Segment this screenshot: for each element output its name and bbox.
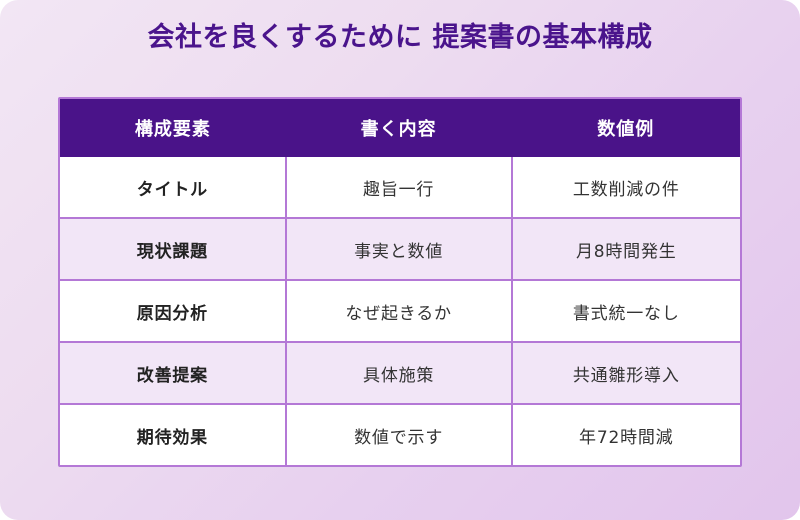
table-row: タイトル 趣旨一行 工数削減の件 [60, 157, 740, 218]
cell-content: 具体施策 [286, 342, 512, 404]
table: 構成要素 書く内容 数値例 タイトル 趣旨一行 工数削減の件 現状課題 事実と数… [60, 99, 740, 465]
proposal-structure-table: 構成要素 書く内容 数値例 タイトル 趣旨一行 工数削減の件 現状課題 事実と数… [58, 97, 742, 467]
table-row: 改善提案 具体施策 共通雛形導入 [60, 342, 740, 404]
cell-element: 期待効果 [60, 404, 286, 465]
cell-content: 事実と数値 [286, 218, 512, 280]
cell-element: タイトル [60, 157, 286, 218]
cell-example: 書式統一なし [512, 280, 741, 342]
cell-example: 工数削減の件 [512, 157, 741, 218]
column-header-example: 数値例 [512, 99, 741, 157]
table-body: タイトル 趣旨一行 工数削減の件 現状課題 事実と数値 月8時間発生 原因分析 … [60, 157, 740, 465]
cell-element: 現状課題 [60, 218, 286, 280]
page-title: 会社を良くするために 提案書の基本構成 [0, 22, 800, 54]
cell-content: なぜ起きるか [286, 280, 512, 342]
cell-example: 年72時間減 [512, 404, 741, 465]
cell-example: 共通雛形導入 [512, 342, 741, 404]
cell-element: 改善提案 [60, 342, 286, 404]
column-header-element: 構成要素 [60, 99, 286, 157]
cell-example: 月8時間発生 [512, 218, 741, 280]
table-header-row: 構成要素 書く内容 数値例 [60, 99, 740, 157]
column-header-content: 書く内容 [286, 99, 512, 157]
cell-content: 趣旨一行 [286, 157, 512, 218]
table-row: 期待効果 数値で示す 年72時間減 [60, 404, 740, 465]
table-header: 構成要素 書く内容 数値例 [60, 99, 740, 157]
slide-canvas: 会社を良くするために 提案書の基本構成 構成要素 書く内容 数値例 タイトル 趣… [0, 0, 800, 520]
cell-content: 数値で示す [286, 404, 512, 465]
table-row: 現状課題 事実と数値 月8時間発生 [60, 218, 740, 280]
cell-element: 原因分析 [60, 280, 286, 342]
table-row: 原因分析 なぜ起きるか 書式統一なし [60, 280, 740, 342]
